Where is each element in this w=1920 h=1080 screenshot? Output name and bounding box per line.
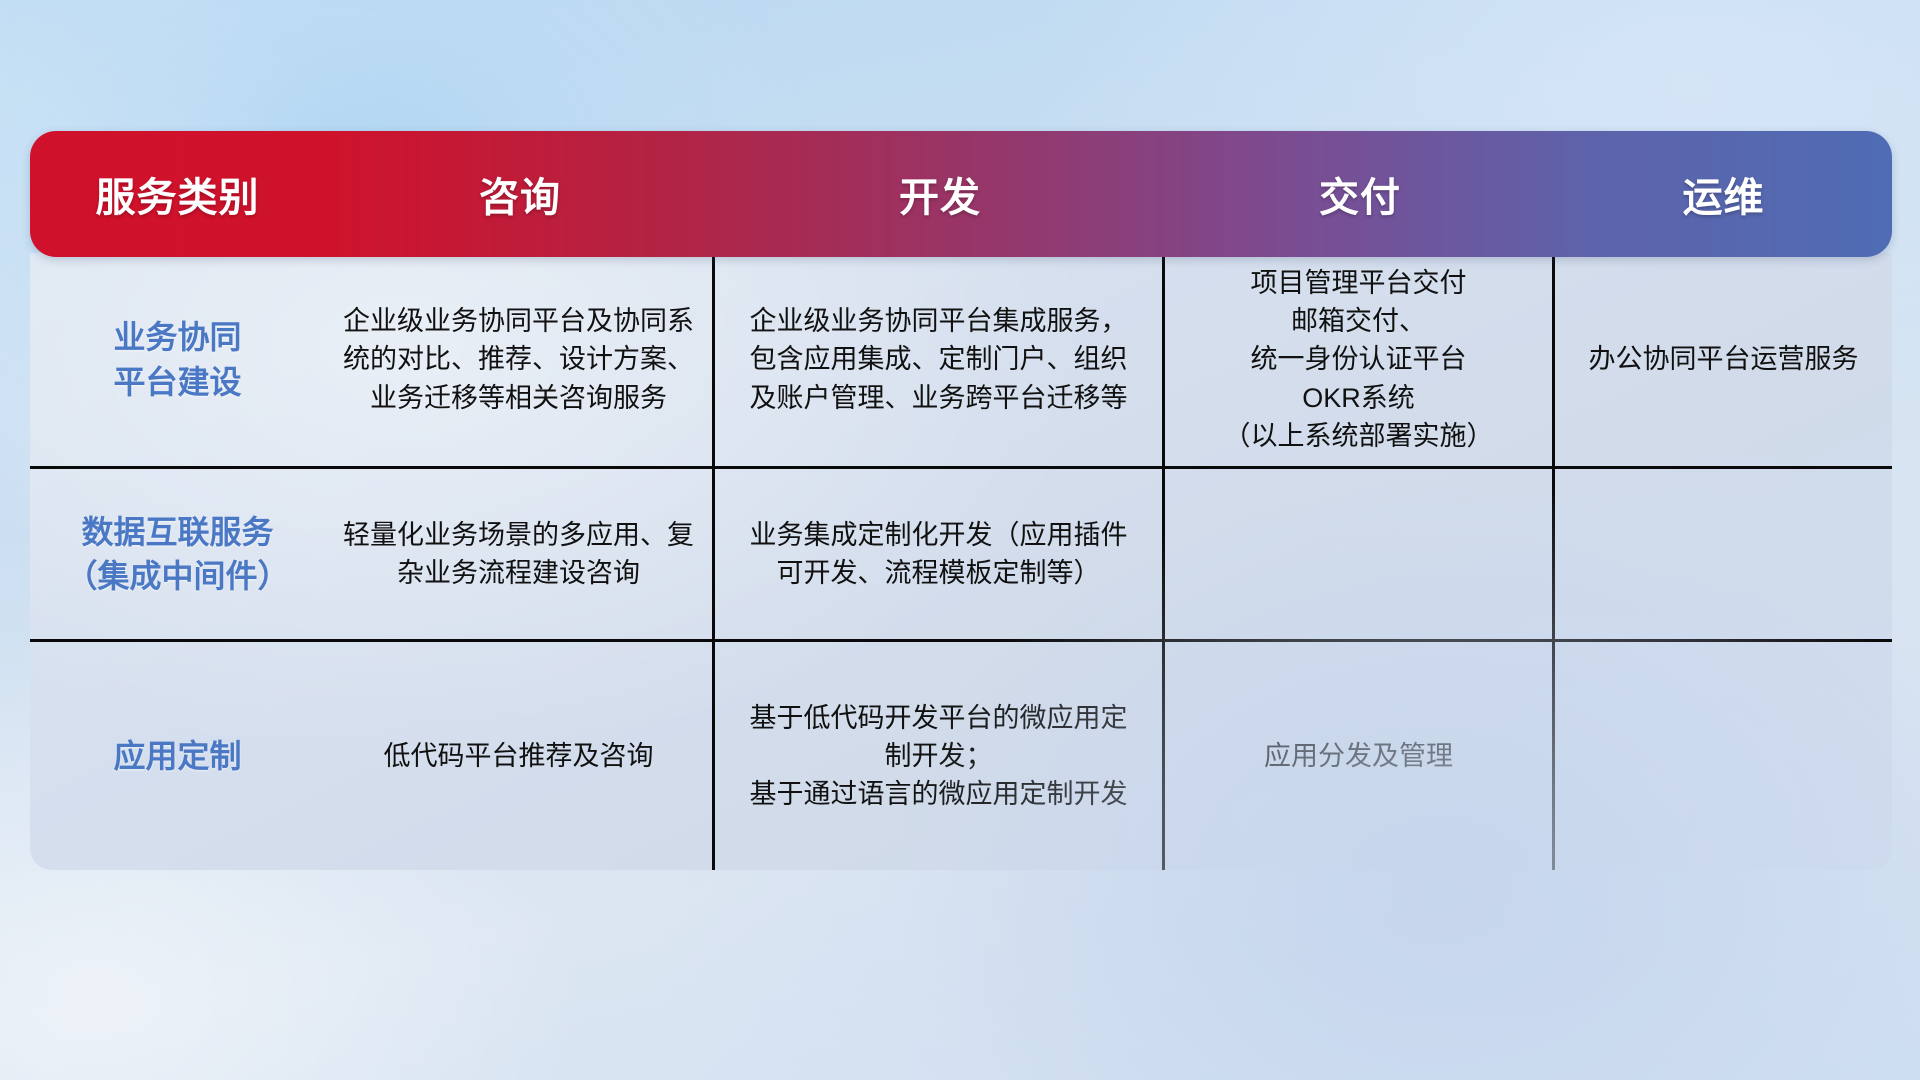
- table-header-row: 服务类别 咨询 开发 交付 运维: [30, 131, 1892, 257]
- column-header-development: 开发: [715, 131, 1165, 257]
- table-body: 业务协同 平台建设 企业级业务协同平台及协同系 统的对比、推荐、设计方案、 业务…: [30, 253, 1892, 870]
- cell-operations: [1555, 469, 1892, 639]
- cell-development: 业务集成定制化开发（应用插件 可开发、流程模板定制等）: [715, 469, 1165, 639]
- table-row: 业务协同 平台建设 企业级业务协同平台及协同系 统的对比、推荐、设计方案、 业务…: [30, 253, 1892, 466]
- cell-delivery: [1165, 469, 1555, 639]
- column-header-service-category: 服务类别: [30, 131, 325, 257]
- cell-category: 应用定制: [30, 642, 325, 870]
- cell-development: 企业级业务协同平台集成服务， 包含应用集成、定制门户、组织 及账户管理、业务跨平…: [715, 253, 1165, 466]
- column-header-operations: 运维: [1555, 131, 1892, 257]
- cell-delivery: 应用分发及管理: [1165, 642, 1555, 870]
- cell-category: 业务协同 平台建设: [30, 253, 325, 466]
- service-matrix-table: 服务类别 咨询 开发 交付 运维 业务协同 平台建设 企业级业务协同平台及协同系…: [30, 131, 1892, 870]
- table-row: 数据互联服务 （集成中间件） 轻量化业务场景的多应用、复 杂业务流程建设咨询 业…: [30, 466, 1892, 639]
- cell-consulting: 轻量化业务场景的多应用、复 杂业务流程建设咨询: [325, 469, 715, 639]
- slide-canvas: 服务类别 咨询 开发 交付 运维 业务协同 平台建设 企业级业务协同平台及协同系…: [0, 0, 1920, 1080]
- cell-operations: 办公协同平台运营服务: [1555, 253, 1892, 466]
- cell-development: 基于低代码开发平台的微应用定 制开发； 基于通过语言的微应用定制开发: [715, 642, 1165, 870]
- column-header-consulting: 咨询: [325, 131, 715, 257]
- cell-consulting: 企业级业务协同平台及协同系 统的对比、推荐、设计方案、 业务迁移等相关咨询服务: [325, 253, 715, 466]
- cell-operations: [1555, 642, 1892, 870]
- cell-category: 数据互联服务 （集成中间件）: [30, 469, 325, 639]
- cell-consulting: 低代码平台推荐及咨询: [325, 642, 715, 870]
- cell-delivery: 项目管理平台交付 邮箱交付、 统一身份认证平台 OKR系统 （以上系统部署实施）: [1165, 253, 1555, 466]
- column-header-delivery: 交付: [1165, 131, 1555, 257]
- table-row: 应用定制 低代码平台推荐及咨询 基于低代码开发平台的微应用定 制开发； 基于通过…: [30, 639, 1892, 870]
